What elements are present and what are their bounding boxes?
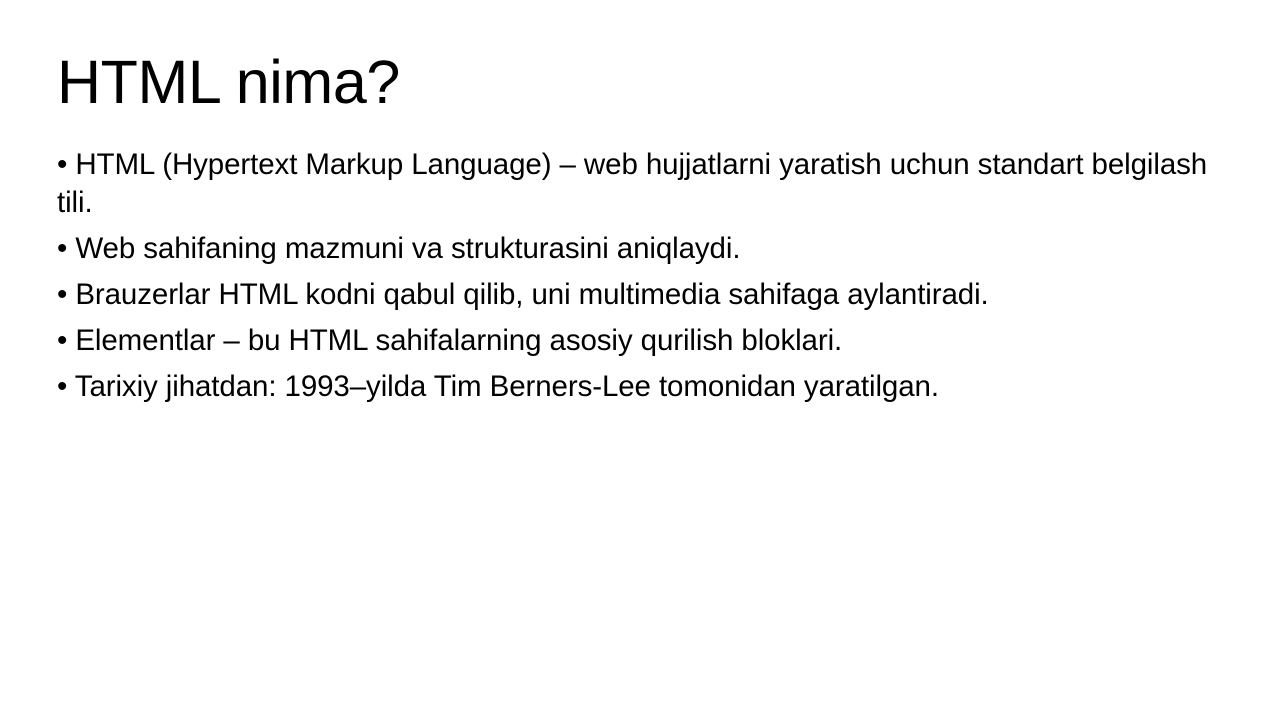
list-item: • Elementlar – bu HTML sahifalarning aso… [57, 322, 1227, 360]
list-item: • Brauzerlar HTML kodni qabul qilib, uni… [57, 276, 1227, 314]
list-item: • Web sahifaning mazmuni va strukturasin… [57, 230, 1227, 268]
bullet-icon: • [57, 324, 75, 357]
bullet-list: • HTML (Hypertext Markup Language) – web… [57, 146, 1227, 406]
page-title: HTML nima? [57, 50, 1227, 115]
list-item-label: Web sahifaning mazmuni va strukturasini … [75, 232, 740, 265]
slide-canvas: HTML nima? • HTML (Hypertext Markup Lang… [0, 0, 1280, 720]
list-item: • Tarixiy jihatdan: 1993–yilda Tim Berne… [57, 368, 1227, 406]
bullet-icon: • [57, 232, 75, 265]
list-item: • HTML (Hypertext Markup Language) – web… [57, 146, 1227, 222]
list-item-label: Elementlar – bu HTML sahifalarning asosi… [75, 324, 842, 357]
list-item-label: Tarixiy jihatdan: 1993–yilda Tim Berners… [75, 370, 939, 403]
bullet-icon: • [57, 148, 75, 181]
bullet-icon: • [57, 278, 75, 311]
list-item-label: HTML (Hypertext Markup Language) – web h… [57, 148, 1207, 219]
bullet-icon: • [57, 370, 75, 403]
list-item-label: Brauzerlar HTML kodni qabul qilib, uni m… [75, 278, 988, 311]
